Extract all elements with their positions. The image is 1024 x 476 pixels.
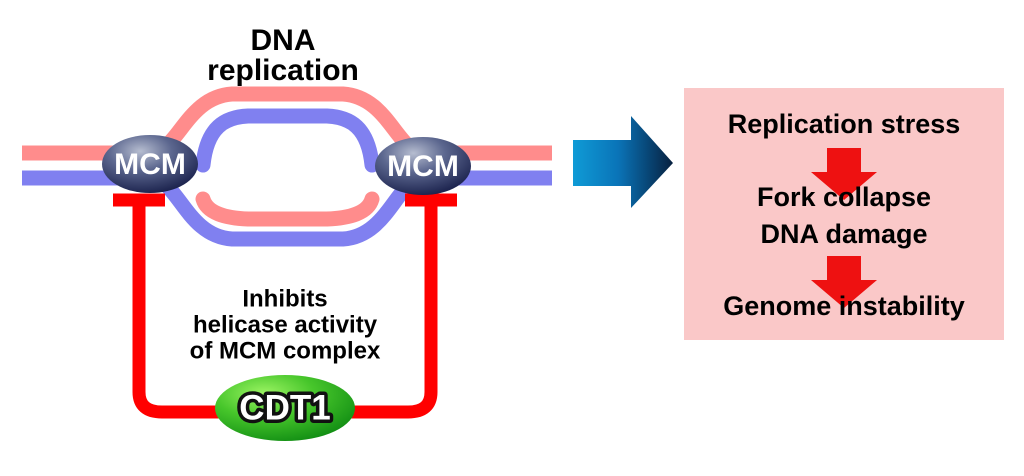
- inhibition-description-line-3: of MCM complex: [190, 337, 381, 364]
- outcome-step-4: Genome instability: [723, 291, 965, 321]
- inhibition-description-line-1: Inhibits: [242, 285, 327, 312]
- figure-canvas: MCM MCM DNA replication Inhibits helicas…: [0, 0, 1024, 476]
- cdt1-label: CDT1: [239, 388, 330, 427]
- title-line-2: replication: [207, 54, 359, 87]
- right-arrow-icon: [573, 116, 673, 208]
- dna-strand-group: [22, 94, 552, 239]
- bubble-inner-bottom-strand: [203, 199, 372, 219]
- mcm-left-node[interactable]: MCM: [102, 135, 198, 193]
- title-line-1: DNA: [251, 24, 316, 57]
- flow-arrow-group: [573, 116, 673, 208]
- cdt1-node[interactable]: CDT1 CDT1: [215, 375, 355, 441]
- figure-title: DNA replication: [207, 24, 359, 87]
- outcome-box: Replication stress Fork collapse DNA dam…: [684, 88, 1004, 340]
- dna-replication-diagram: MCM MCM DNA replication Inhibits helicas…: [0, 0, 1024, 476]
- outcome-step-1: Replication stress: [728, 109, 961, 139]
- bubble-outer-bottom-strand: [150, 178, 424, 239]
- inhibition-description-line-2: helicase activity: [193, 311, 378, 338]
- mcm-right-node[interactable]: MCM: [375, 137, 471, 195]
- inhibition-description: Inhibits helicase activity of MCM comple…: [190, 285, 381, 364]
- mcm-left-label: MCM: [114, 148, 186, 181]
- mcm-right-label: MCM: [387, 150, 459, 183]
- outcome-step-2: Fork collapse: [757, 182, 931, 212]
- bubble-inner-top-strand: [203, 116, 372, 165]
- outcome-step-3: DNA damage: [760, 219, 927, 249]
